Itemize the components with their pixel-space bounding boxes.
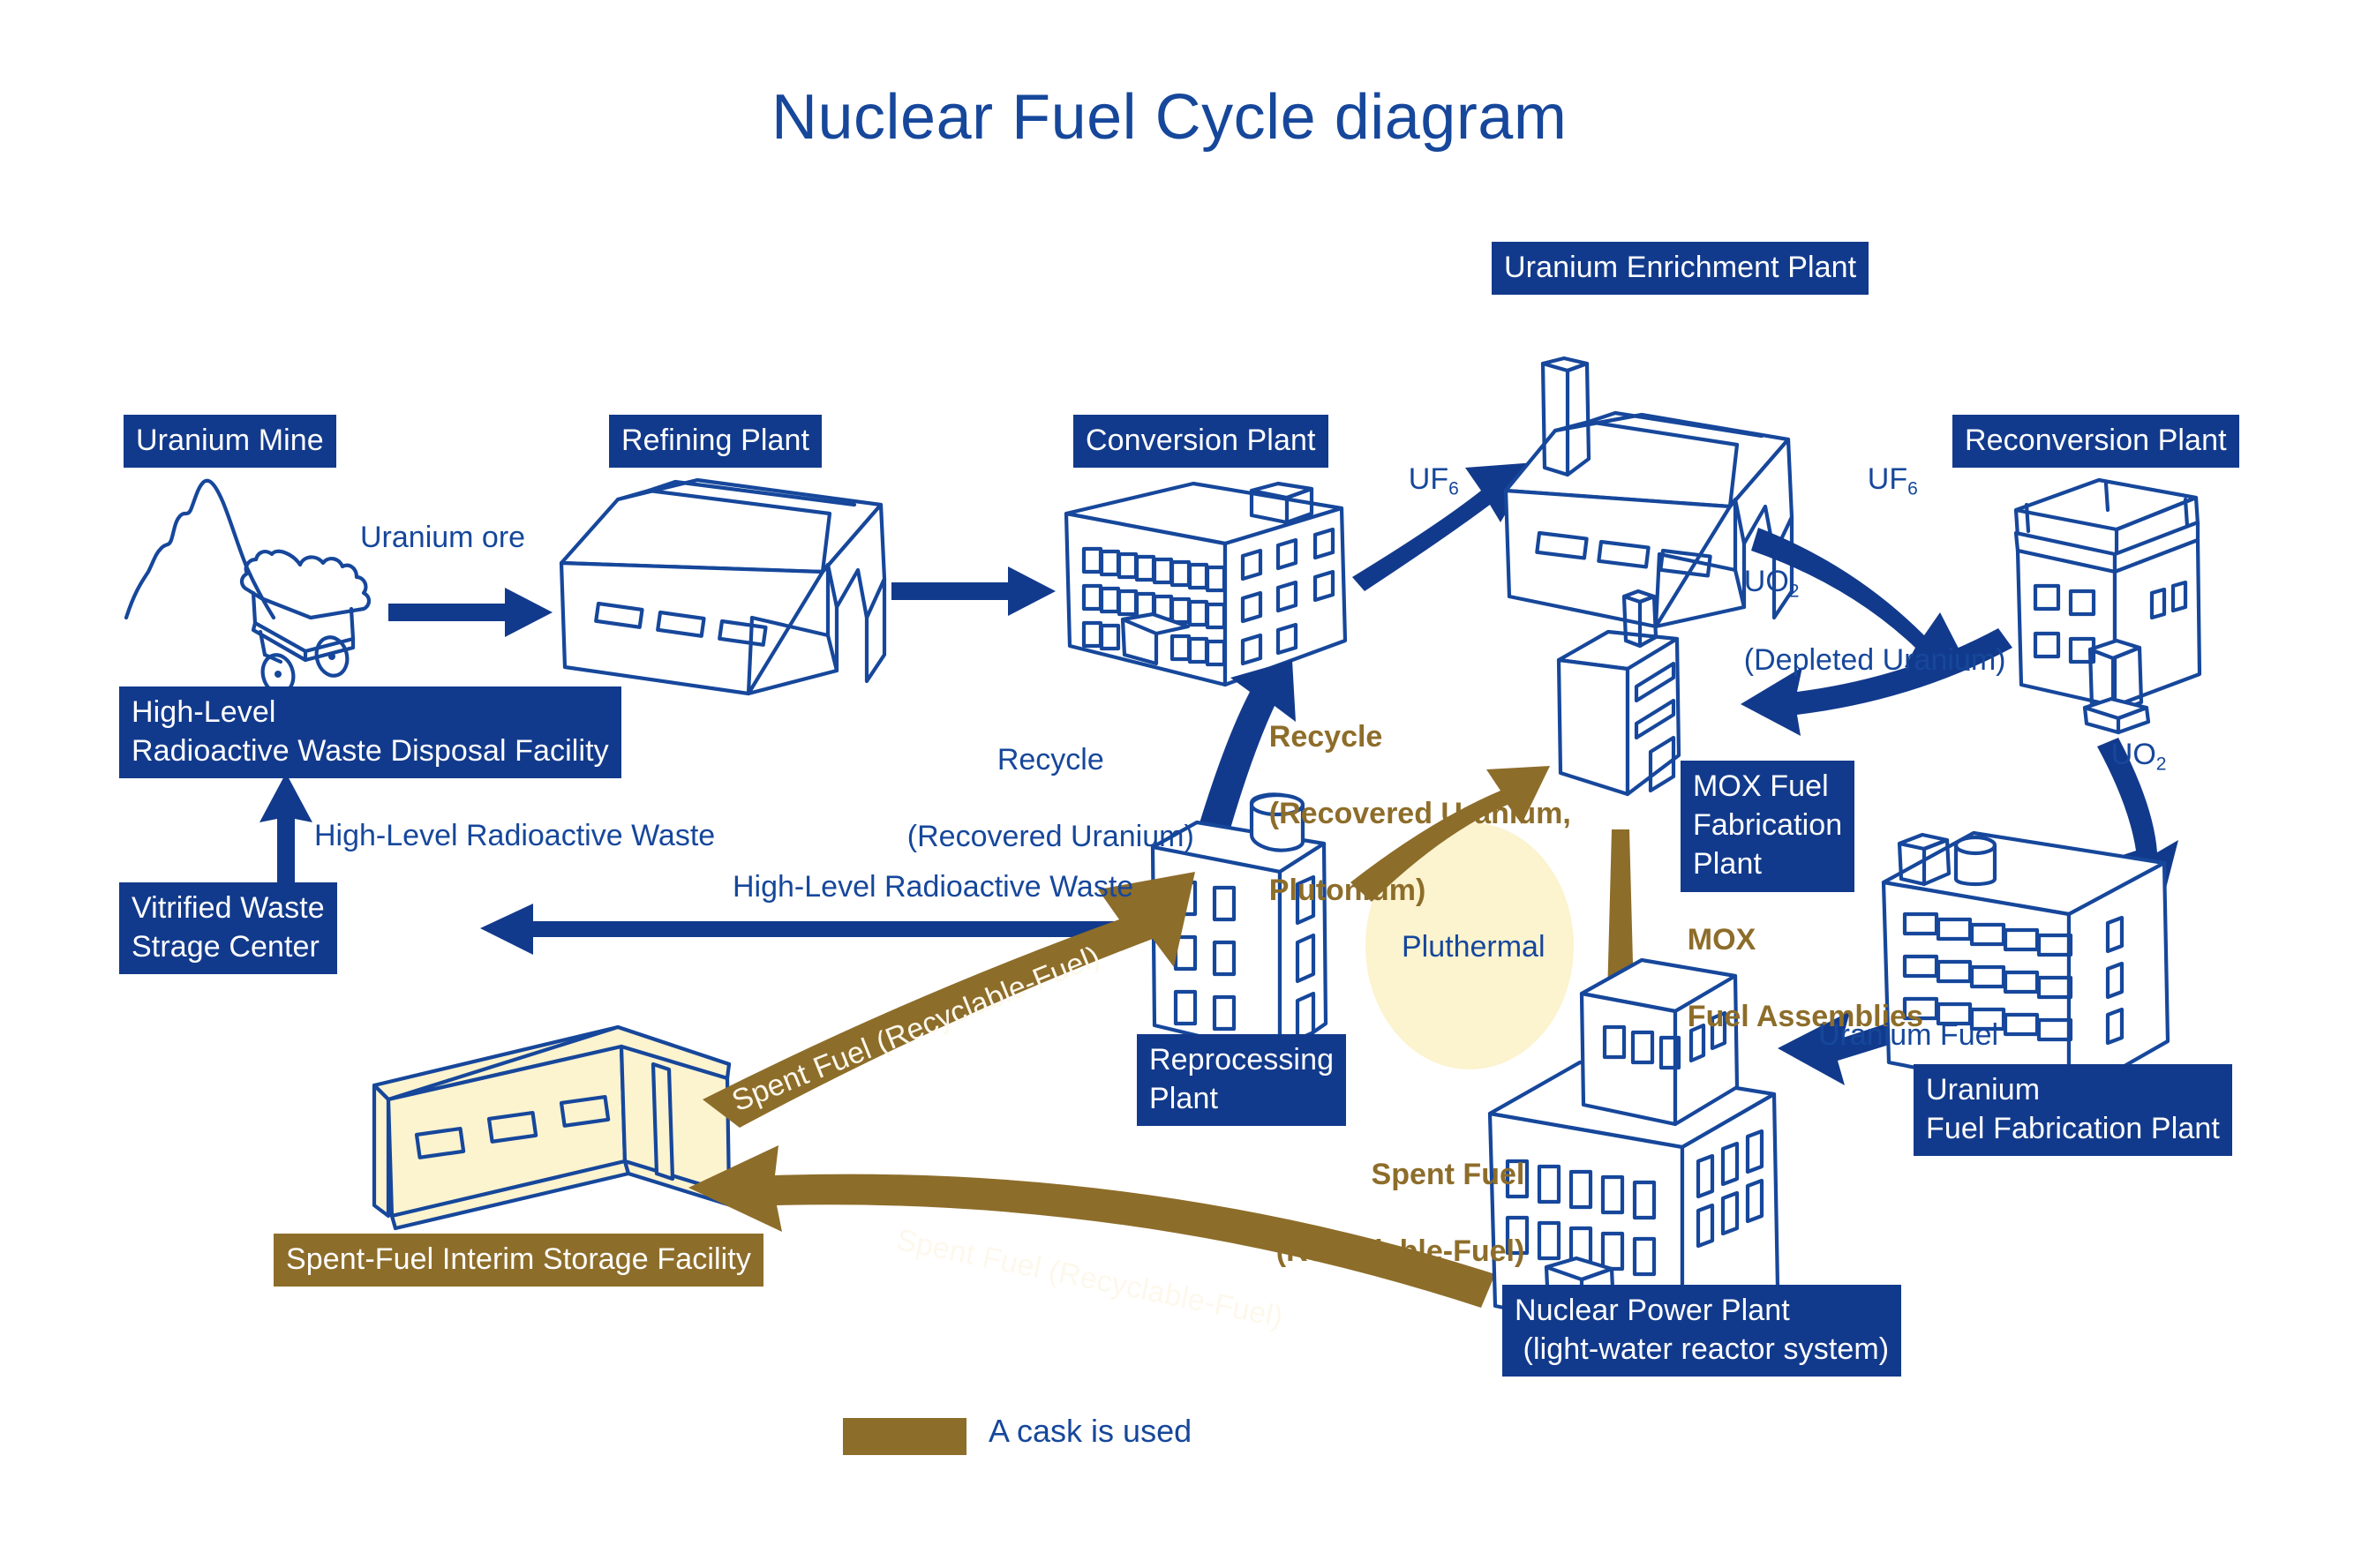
flow-label-uf6-out: UF6 xyxy=(1834,422,1918,539)
arrow-hlw-to-disposal xyxy=(259,773,312,897)
label-hlw-disposal-facility: High-Level Radioactive Waste Disposal Fa… xyxy=(119,686,621,778)
label-mox-fabrication-plant: MOX Fuel Fabrication Plant xyxy=(1681,761,1854,892)
flow-label-uo2-depleted: UO2 (Depleted Uranium) xyxy=(1711,524,2005,718)
refining-plant-building xyxy=(561,480,884,694)
flow-label-uranium-ore: Uranium ore xyxy=(360,519,525,558)
recycle-plutonium-line3: Plutonium) xyxy=(1269,874,1426,907)
label-refining-plant: Refining Plant xyxy=(609,415,822,468)
spent-fuel-storage-building xyxy=(374,1027,731,1228)
label-vitrified-waste-storage: Vitrified Waste Strage Center xyxy=(119,882,337,974)
uf6-out-subscript: 6 xyxy=(1907,478,1918,499)
uo2-right-text: UO xyxy=(2111,738,2156,771)
recycle-uranium-line2: (Recovered Uranium) xyxy=(907,820,1194,853)
reconversion-plant-building xyxy=(2016,480,2200,732)
uo2-depleted-text: UO xyxy=(1744,565,1789,598)
flow-label-uf6-in: UF6 xyxy=(1375,422,1459,539)
uranium-mine-illustration xyxy=(126,481,369,697)
mox-assemblies-line1: MOX xyxy=(1688,923,1756,957)
uf6-out-text: UF xyxy=(1868,462,1907,496)
recycle-plutonium-line2: (Recovered Uranium, xyxy=(1269,797,1571,830)
flow-label-uranium-fuel: Uranium Fuel xyxy=(1818,1017,1998,1055)
uranium-fab-plant-building xyxy=(1884,833,2168,1098)
flow-label-spent-fuel-bold: Spent Fuel (Recyclable-Fuel) xyxy=(1243,1117,1524,1309)
label-reconversion-plant: Reconversion Plant xyxy=(1952,415,2239,468)
label-enrichment-plant: Uranium Enrichment Plant xyxy=(1492,242,1869,295)
spent-fuel-bold-line2: (Recyclable-Fuel) xyxy=(1276,1234,1525,1268)
label-spent-fuel-storage-facility: Spent-Fuel Interim Storage Facility xyxy=(274,1234,763,1287)
diagram-canvas: Nuclear Fuel Cycle diagram .bl{fill:none… xyxy=(0,0,2354,1568)
legend-cask-label: A cask is used xyxy=(989,1413,1192,1450)
uo2-depleted-subscript: 2 xyxy=(1789,581,1800,601)
flow-label-recycle-uranium: Recycle (Recovered Uranium) xyxy=(874,702,1194,895)
uf6-in-subscript: 6 xyxy=(1448,478,1459,499)
uo2-right-subscript: 2 xyxy=(2156,754,2167,774)
flow-label-uo2-right: UO2 xyxy=(2078,697,2167,814)
label-conversion-plant: Conversion Plant xyxy=(1073,415,1328,468)
label-nuclear-power-plant: Nuclear Power Plant (light-water reactor… xyxy=(1502,1285,1901,1377)
flow-label-hlw-up: High-Level Radioactive Waste xyxy=(314,817,715,856)
uf6-in-text: UF xyxy=(1409,462,1448,496)
arrow-uranium-ore xyxy=(388,588,553,637)
label-uranium-mine: Uranium Mine xyxy=(124,415,336,468)
spent-fuel-bold-line1: Spent Fuel xyxy=(1372,1158,1525,1191)
legend-cask-swatch xyxy=(843,1418,966,1455)
flow-label-recycle-plutonium: Recycle (Recovered Uranium, Plutonium) xyxy=(1236,679,1571,949)
flow-label-pluthermal: Pluthermal xyxy=(1402,928,1546,967)
recycle-plutonium-line1: Recycle xyxy=(1269,720,1383,754)
arrow-refining-to-conversion xyxy=(891,566,1056,616)
flow-label-hlw-left: High-Level Radioactive Waste xyxy=(733,868,1133,907)
uo2-depleted-detail: (Depleted Uranium) xyxy=(1744,643,2006,677)
label-reprocessing-plant: Reprocessing Plant xyxy=(1137,1034,1346,1126)
conversion-plant-building xyxy=(1066,484,1345,685)
recycle-uranium-line1: Recycle xyxy=(997,743,1104,776)
label-uranium-fabrication-plant: Uranium Fuel Fabrication Plant xyxy=(1914,1064,2232,1156)
